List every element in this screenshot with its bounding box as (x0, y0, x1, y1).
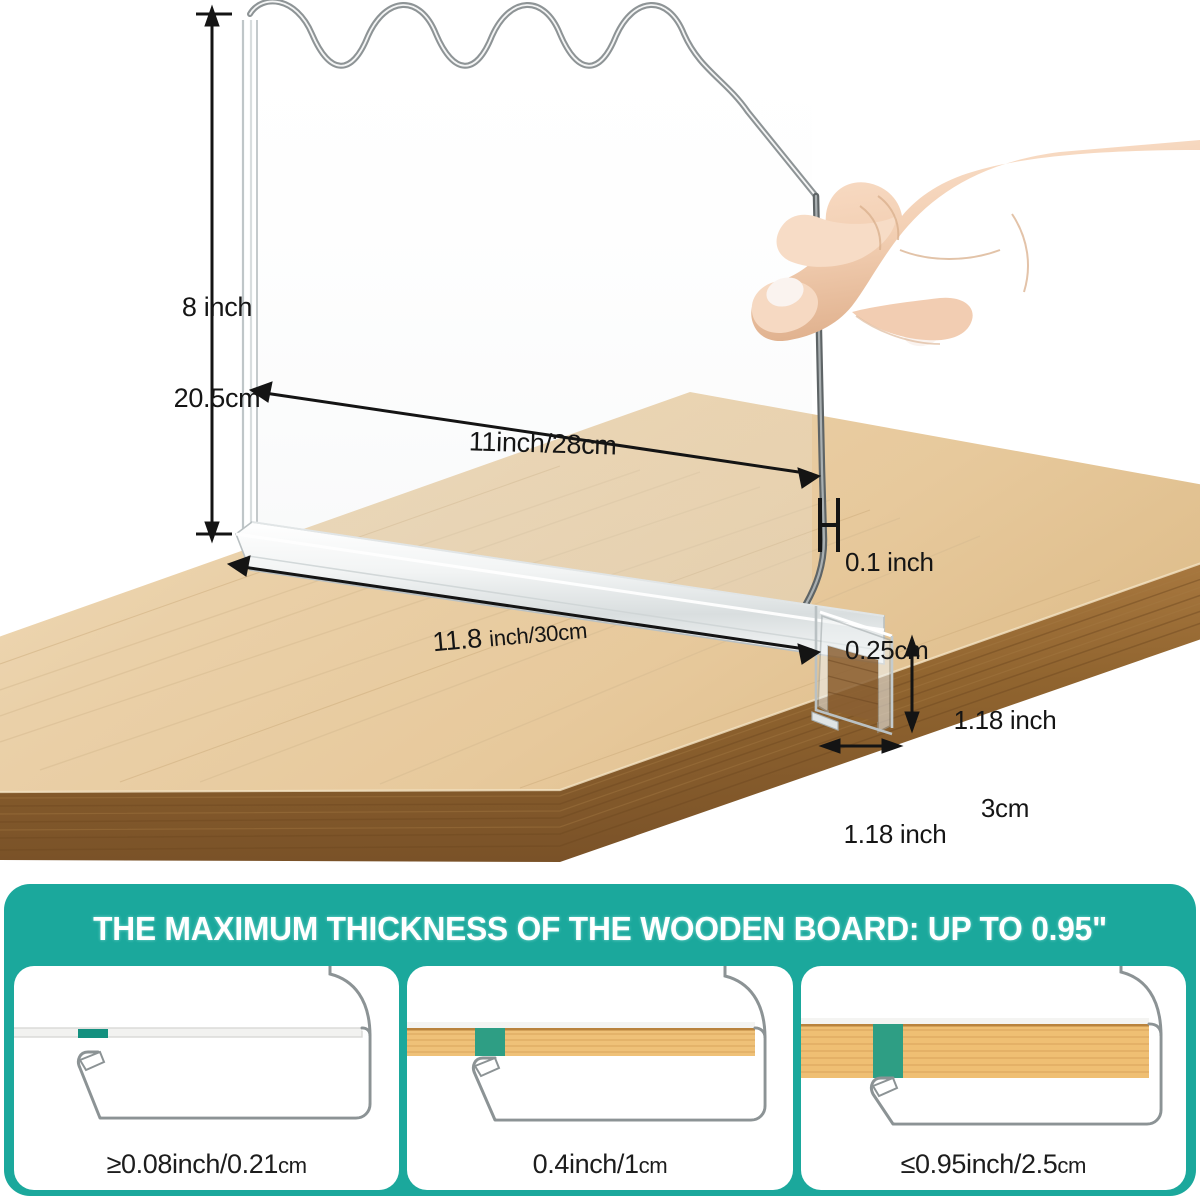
label-base-length: 11.8 inch/30cm (400, 584, 591, 690)
label-panel-width: 11inch/28cm (439, 396, 618, 492)
label-panel-thickness: 0.1 inch 0.25cm (845, 490, 934, 723)
product-dimension-illustration: 8 inch 20.5cm 11inch/28cm 0.1 inch 0.25c… (0, 0, 1200, 880)
panel-1-caption: ≥0.08inch/0.21cm (14, 1149, 399, 1180)
thickness-panel-3: ≤0.95inch/2.5cm (801, 966, 1186, 1190)
teal-card: THE MAXIMUM THICKNESS OF THE WOODEN BOAR… (4, 884, 1196, 1196)
label-panel-height: 8 inch 20.5cm (152, 232, 282, 474)
label-clip-width: 1.18 inch 3cm (820, 762, 970, 880)
thickness-panel-1: ≥0.08inch/0.21cm (14, 966, 399, 1190)
banner-title: THE MAXIMUM THICKNESS OF THE WOODEN BOAR… (93, 910, 1107, 948)
banner: THE MAXIMUM THICKNESS OF THE WOODEN BOAR… (4, 898, 1196, 960)
panel-row: ≥0.08inch/0.21cm (4, 966, 1196, 1190)
thickness-compatibility-section: THE MAXIMUM THICKNESS OF THE WOODEN BOAR… (0, 880, 1200, 1200)
hand-holding-divider (751, 140, 1200, 348)
panel-3-caption: ≤0.95inch/2.5cm (801, 1149, 1186, 1180)
panel-2-caption: 0.4inch/1cm (407, 1149, 792, 1180)
thickness-panel-2: 0.4inch/1cm (407, 966, 792, 1190)
